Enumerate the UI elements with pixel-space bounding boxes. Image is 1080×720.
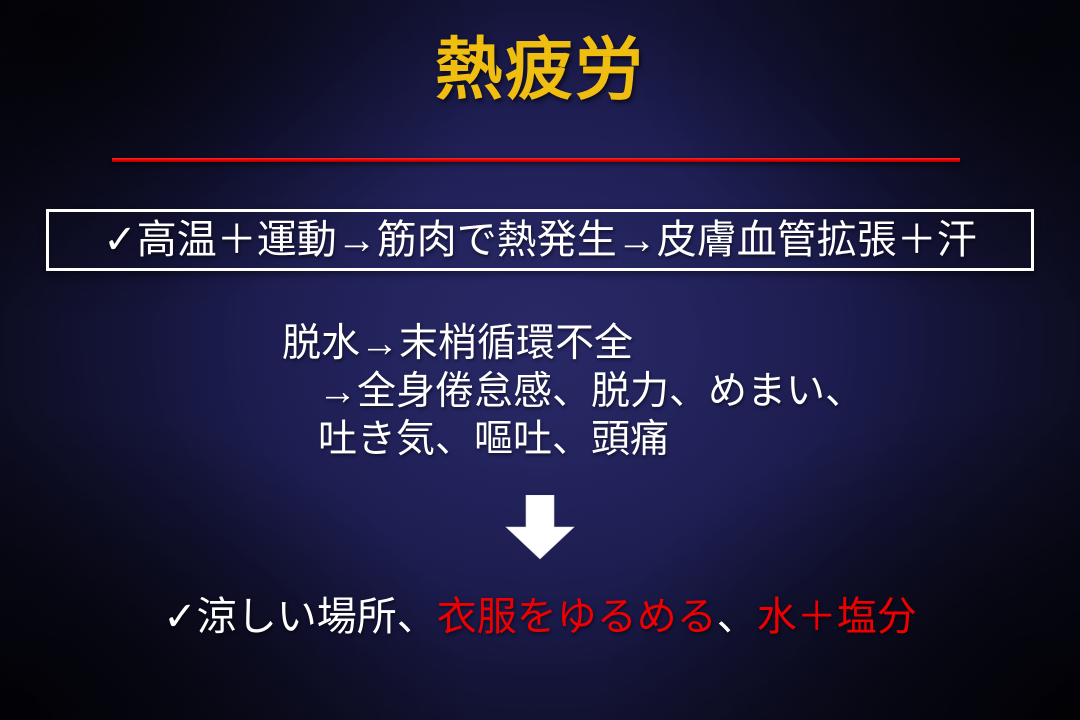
title-divider-rule bbox=[112, 158, 960, 162]
symptom-line-3: 吐き気、嘔吐、頭痛 bbox=[282, 416, 982, 464]
treatment-segment-loosen-clothing: 衣服をゆるめる bbox=[437, 595, 717, 639]
boxed-bullet-mechanism: ✓高温＋運動→筋肉で熱発生→皮膚血管拡張＋汗 bbox=[46, 209, 1034, 271]
treatment-segment-separator: 、 bbox=[717, 595, 757, 639]
boxed-bullet-text: ✓高温＋運動→筋肉で熱発生→皮膚血管拡張＋汗 bbox=[103, 220, 977, 260]
slide-title: 熱疲労 bbox=[0, 34, 1080, 107]
symptom-line-2: →全身倦怠感、脱力、めまい、 bbox=[282, 368, 982, 416]
presentation-slide: 熱疲労 ✓高温＋運動→筋肉で熱発生→皮膚血管拡張＋汗 脱水→末梢循環不全 →全身… bbox=[0, 0, 1080, 720]
treatment-segment-cool-place: ✓涼しい場所、 bbox=[163, 595, 437, 639]
treatment-segment-water-salt: 水＋塩分 bbox=[757, 595, 917, 639]
symptom-line-1: 脱水→末梢循環不全 bbox=[282, 320, 982, 368]
symptom-list: 脱水→末梢循環不全 →全身倦怠感、脱力、めまい、 吐き気、嘔吐、頭痛 bbox=[282, 320, 982, 464]
treatment-bullet: ✓涼しい場所、衣服をゆるめる、水＋塩分 bbox=[0, 595, 1080, 640]
down-arrow-icon bbox=[502, 495, 578, 561]
